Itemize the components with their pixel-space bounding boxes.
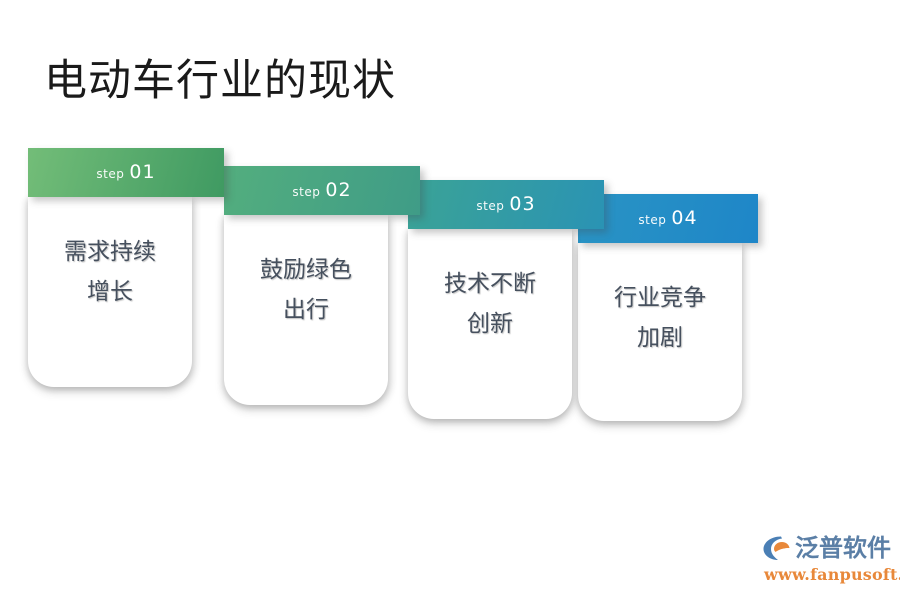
step-card-body-03 (408, 229, 572, 419)
step-label-03: step03 (476, 193, 535, 215)
step-list: step01需求持续增长step02鼓励绿色出行step03技术不断创新step… (0, 0, 900, 600)
step-label-02: step02 (292, 179, 351, 201)
step-number: 01 (129, 161, 155, 183)
step-word: step (476, 199, 504, 213)
step-label-01: step01 (96, 161, 155, 183)
step-word: step (292, 185, 320, 199)
step-header-03[interactable]: step03 (408, 180, 604, 229)
step-number: 04 (671, 207, 697, 229)
step-label-04: step04 (638, 207, 697, 229)
step-header-04[interactable]: step04 (578, 194, 758, 243)
step-card-body-02 (224, 215, 388, 405)
step-word: step (638, 213, 666, 227)
fanpu-logo-icon (762, 534, 792, 562)
step-card-body-04 (578, 243, 742, 421)
step-header-01[interactable]: step01 (28, 148, 224, 197)
logo-brand-text: 泛普软件 (795, 536, 891, 560)
logo-url-text: www.fanpusoft.com (764, 565, 900, 584)
step-number: 03 (509, 193, 535, 215)
logo-row: 泛普软件 (762, 534, 891, 562)
company-logo: 泛普软件 www.fanpusoft.com (762, 532, 894, 590)
step-number: 02 (325, 179, 351, 201)
slide-canvas: 电动车行业的现状 step01需求持续增长step02鼓励绿色出行step03技… (0, 0, 900, 600)
step-header-02[interactable]: step02 (224, 166, 420, 215)
step-card-body-01 (28, 197, 192, 387)
step-word: step (96, 167, 124, 181)
